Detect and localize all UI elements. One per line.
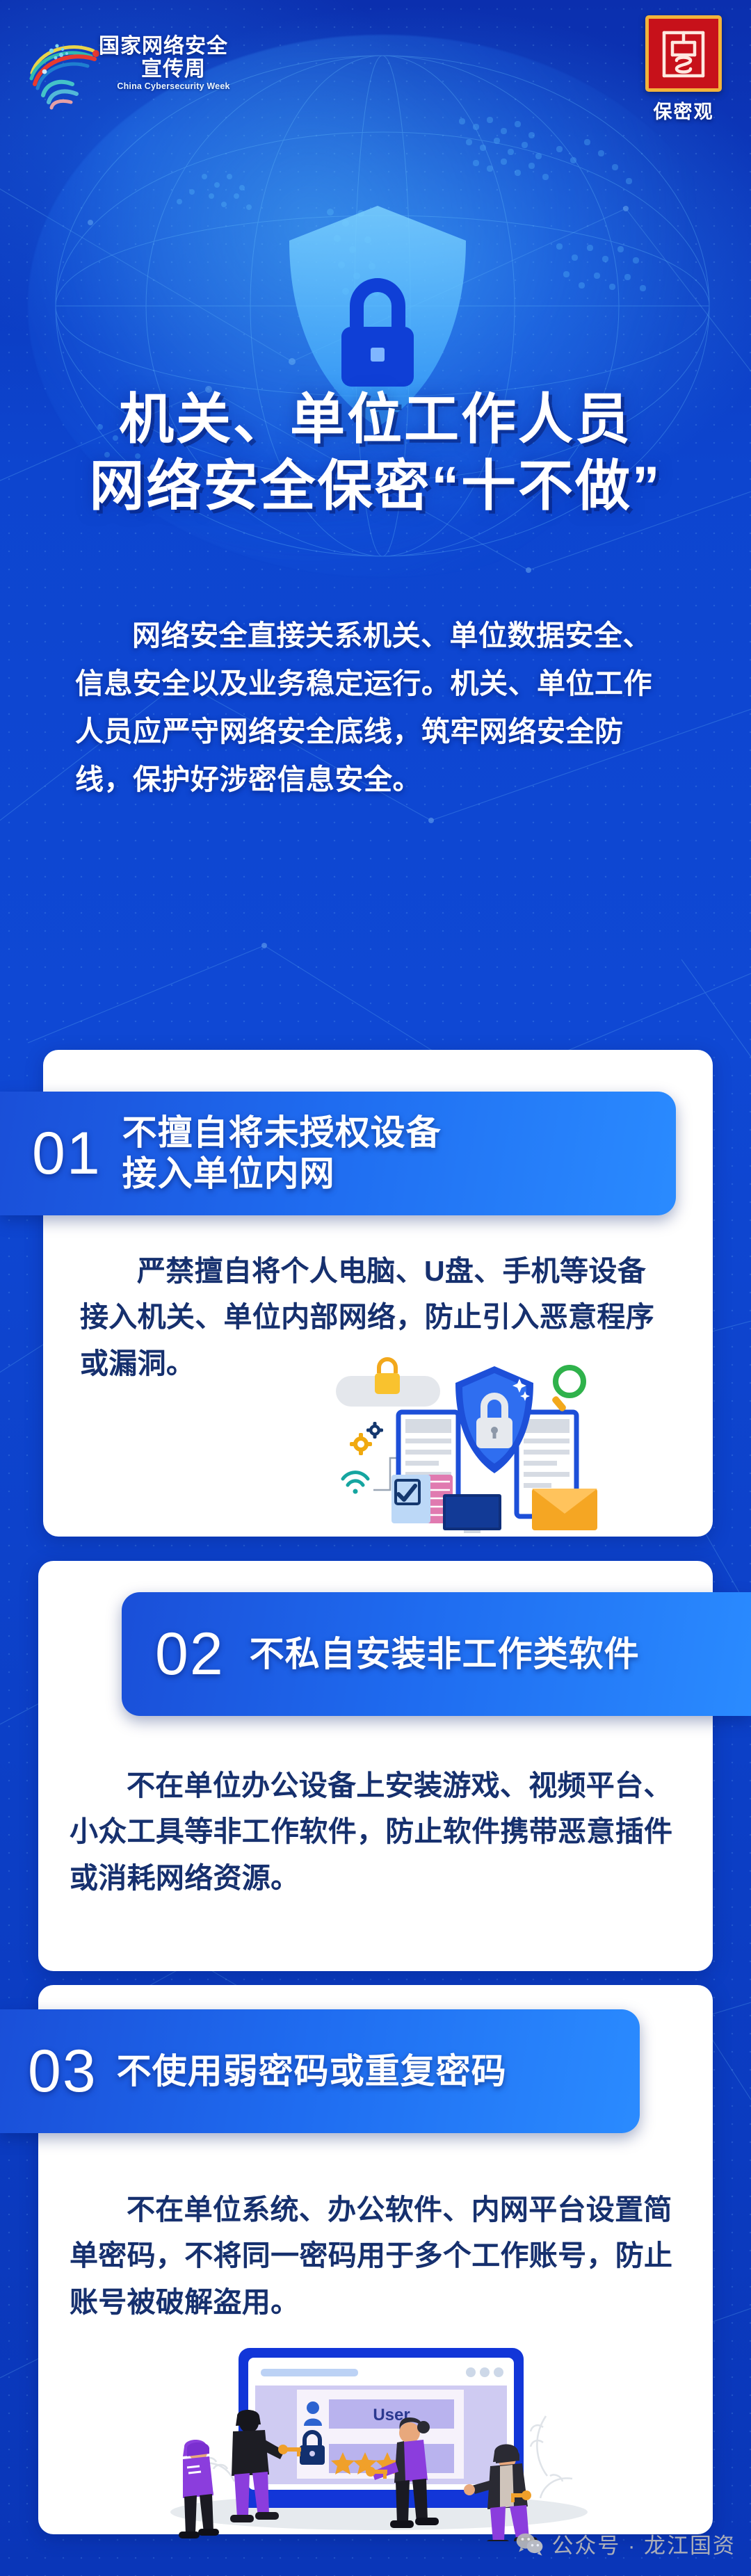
shield-documents-lock-illustration	[323, 1345, 622, 1533]
seal-label: 保密观	[636, 97, 732, 124]
section-01: 01 不擅自将未授权设备 接入单位内网 严禁擅自将个人电脑、U盘、手机等设备接入…	[0, 1050, 751, 1550]
seal-icon	[645, 15, 722, 92]
seal-script-character	[649, 19, 718, 88]
cybersecurity-week-logo: 国家网络安全 宣传周 China Cybersecurity Week	[21, 31, 250, 115]
login-screen-hackers-illustration: User	[156, 2333, 601, 2541]
baomiguan-logo: 保密观	[636, 15, 732, 124]
section-02-body: 不在单位办公设备上安装游戏、视频平台、小众工具等非工作软件，防止软件携带恶意插件…	[70, 1763, 681, 1901]
swoosh-icon	[21, 35, 104, 111]
section-02-title: 不私自安装非工作类软件	[250, 1634, 640, 1675]
logo-line-2: 宣传周	[99, 58, 248, 81]
section-01-title-line-2: 接入单位内网	[122, 1153, 442, 1194]
title-line-1: 机关、单位工作人员	[0, 386, 751, 453]
logo-line-en: China Cybersecurity Week	[99, 81, 248, 91]
section-03-body: 不在单位系统、办公软件、内网平台设置简单密码，不将同一密码用于多个工作账号，防止…	[70, 2187, 681, 2325]
section-03-banner: 03 不使用弱密码或重复密码	[0, 2009, 640, 2133]
section-02-banner: 02 不私自安装非工作类软件	[122, 1592, 751, 1716]
intro-paragraph: 网络安全直接关系机关、单位数据安全、信息安全以及业务稳定运行。机关、单位工作人员…	[75, 612, 679, 804]
section-01-title-line-1: 不擅自将未授权设备	[122, 1112, 442, 1153]
header: 国家网络安全 宣传周 China Cybersecurity Week	[0, 0, 751, 959]
wechat-icon	[515, 2532, 544, 2557]
watermark-text: 公众号 · 龙江国资	[551, 2528, 736, 2559]
section-03: 03 不使用弱密码或重复密码 不在单位系统、办公软件、内网平台设置简单密码，不将…	[0, 1985, 751, 2541]
section-01-number: 01	[32, 1124, 102, 1183]
logo-line-1: 国家网络安全	[99, 35, 248, 58]
section-01-banner: 01 不擅自将未授权设备 接入单位内网	[0, 1092, 676, 1215]
section-03-number: 03	[28, 2041, 97, 2101]
section-02-number: 02	[155, 1624, 225, 1684]
section-03-title: 不使用弱密码或重复密码	[117, 2051, 507, 2092]
title-line-2: 网络安全保密“十不做”	[0, 453, 751, 519]
watermark: 公众号 · 龙江国资	[515, 2528, 736, 2559]
section-02: 02 不私自安装非工作类软件 不在单位办公设备上安装游戏、视频平台、小众工具等非…	[0, 1561, 751, 1978]
page-title: 机关、单位工作人员 网络安全保密“十不做”	[0, 386, 751, 520]
